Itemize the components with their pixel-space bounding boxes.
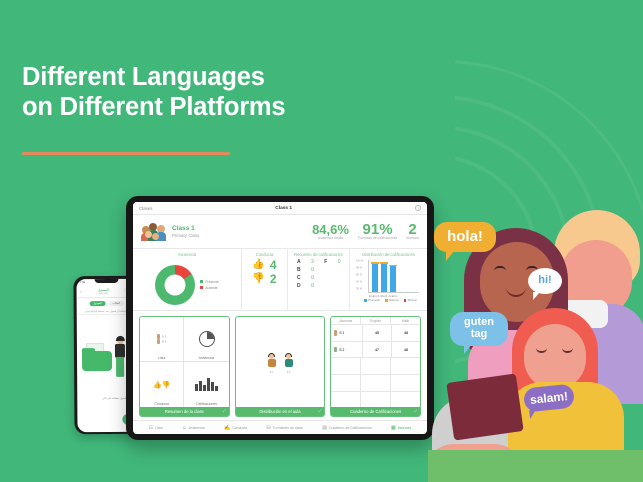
attendance-donut-chart [155,265,195,305]
column-header-math: Math [391,317,420,324]
grade-count: 0 [311,275,318,281]
student-label: S 1 [267,371,277,374]
quadrant-behaviour: 👍👎 Conducta [140,362,184,407]
bar-math [381,264,387,292]
status-time: 7:39 [80,281,85,284]
card-body: Alumnos English Math S 1 45 48 [331,317,420,407]
stat-students: 2 Alumnos [406,223,419,240]
card-title: Resumen de la clase [165,409,204,414]
quadrant-attendance: Asistencia [184,317,228,362]
ipad-device: Clases Class 1 ? Class 1 Pr [126,196,434,440]
attendance-legend: Presente Ausente [200,279,219,291]
page-title: Different Languages on Different Platfor… [22,62,285,122]
student-name: S 2 [339,348,344,352]
cell-english: 45 [363,325,392,341]
card-gradebook[interactable]: Alumnos English Math S 1 45 48 [330,316,421,417]
legend-label-absent: Ausente [205,286,217,290]
iphone-notch [94,278,118,283]
list-icon: ☷ [149,425,153,431]
class-title-block: Class 1 Primary Class [172,225,199,238]
iphone-nav-title: الفصول [98,287,109,291]
grade-letter: A [297,259,305,265]
legend-label: Promedio [368,298,380,302]
toolbar-label: Conducta [232,426,247,430]
bar-english [372,264,378,292]
stat-grade-average: 91% Promedio de calificaciones [358,223,397,240]
toolbar-label: Asistencia [189,426,205,430]
quadrant-label: Calificaciones [196,402,217,406]
toolbar-item-maletin[interactable]: ⛁ Tu maletín de clase [266,425,303,431]
back-button[interactable]: Clases [139,206,152,211]
grade-letter: C [297,275,305,281]
people-illustration: hola! hi! guten tag salam! [428,200,643,482]
cell-math: 48 [392,325,420,341]
grade-distribution-panel[interactable]: Distribución de calificaciones 100 % 80 … [349,249,427,310]
card-body: S 1 S 2 [236,317,325,407]
grade-distribution-chart: 100 % 80 % 60 % 40 % 20 % [356,259,421,301]
speech-bubble-hi: hi! [528,268,562,294]
toolbar-item-conducta[interactable]: ✍ Conducta [224,425,247,431]
expand-icon[interactable]: ⤢ [223,409,226,413]
quadrant-grades: Calificaciones [184,362,228,407]
cell-math: 48 [392,342,420,358]
grade-count-panel[interactable]: Recuento de calificaciones A 2 F 0 B 0 C… [287,249,349,310]
stat-attendance: 84,6% Asistencia media [312,223,349,240]
quadrant-label: Asistencia [199,356,214,360]
title-underline [22,152,230,155]
legend-label-present: Presente [205,280,219,284]
avatar [334,347,338,353]
bar-marker [380,262,388,264]
expand-icon[interactable]: ⤢ [414,409,417,413]
legend-swatch-present [200,280,203,283]
bubble-text: hola! [447,229,483,245]
legend-swatch-promedio [364,299,367,302]
chart-legend: Promedio Máximo Mínimo [356,298,421,302]
student-label: S 2 [284,371,294,374]
student-name: S 1 [162,334,167,338]
thumbs-down-icon: 👎 [252,273,264,285]
stat-value: 84,6% [312,223,349,237]
card-footer[interactable]: Distribución en el aula ⤢ [236,407,325,416]
stat-label: Alumnos [406,236,419,240]
person-hair [115,336,124,341]
speech-bubble-guten-tag: guten tag [450,312,508,346]
panel-title: Asistencia [137,252,237,257]
person-redhead-face [524,324,586,390]
stat-value: 2 [406,223,419,237]
column-header-alumnos: Alumnos [331,317,361,324]
toolbar-label: Informes [398,426,412,430]
metrics-row: Asistencia Presente Ausente Conducta 👍 4 [133,249,427,311]
y-tick: 100 % [356,260,364,263]
table-row-empty[interactable] [331,358,420,375]
expand-icon[interactable]: ⤢ [318,409,321,413]
table-row[interactable]: S 2 47 48 [331,342,420,359]
bubble-text: salam! [529,390,568,407]
y-tick: 60 % [356,274,362,277]
card-body: S 1 S 2 Lista Asistencia 👍👎 [140,317,229,407]
class-avatar [141,222,167,242]
speech-bubble-hola: hola! [434,222,496,252]
grade-count: 2 [311,259,318,265]
iphone-nav-subtitle: المدرسة [82,291,124,294]
card-footer[interactable]: Cuaderno de Calificaciones ⤢ [331,407,420,416]
person-check-icon: ☺ [182,425,187,431]
panel-title: Distribución de calificaciones [354,252,423,257]
toolbar-label: Tu maletín de clase [273,426,303,430]
behaviour-panel[interactable]: Conducta 👍 4 👎 2 [241,249,287,310]
quadrant-label: Conducta [154,402,169,406]
bar-arabic [390,266,396,292]
class-name: Class 1 [172,225,199,233]
legend-swatch-minimo [404,299,407,302]
briefcase-icon: ⛁ [266,425,270,431]
bar-marker [371,262,379,264]
help-icon[interactable]: ? [415,205,421,211]
ground-shape [428,450,643,482]
chart-bars [372,260,396,292]
behaviour-positive-value: 4 [270,259,277,271]
table-header-row: Alumnos English Math [331,317,420,325]
promo-banner: Different Languages on Different Platfor… [0,0,643,482]
summary-quadrants: S 1 S 2 Lista Asistencia 👍👎 [140,317,229,407]
legend-label: Máximo [389,298,399,302]
card-title: Cuaderno de Calificaciones [350,409,401,414]
cell-student: S 1 [331,325,363,341]
stat-label: Promedio de calificaciones [358,236,397,240]
stat-value: 91% [358,223,397,237]
grade-count: 0 [311,267,318,273]
behaviour-negative-value: 2 [270,273,277,285]
quadrant-label: Lista [158,356,165,360]
cards-row: S 1 S 2 Lista Asistencia 👍👎 [133,311,427,420]
bubble-text: hi! [538,275,551,287]
cell-english: 47 [363,342,392,358]
student-name: S 1 [339,331,344,335]
thumbs-icons: 👍👎 [153,381,170,389]
folder-icon [81,351,111,371]
student-body [268,359,276,367]
panel-title: Conducta [246,252,283,257]
legend-swatch-absent [200,286,203,289]
mini-student-list: S 1 S 2 [157,334,167,344]
seating-area: S 1 S 2 [236,317,325,407]
table-row-empty[interactable] [331,375,420,392]
chart-plot-area [368,260,419,293]
table-row[interactable]: S 1 45 48 [331,325,420,342]
bubble-text-line2: tag [471,329,488,341]
panel-title: Recuento de calificaciones [292,252,345,257]
bottom-toolbar: ☷ Lista ☺ Asistencia ✍ Conducta ⛁ Tu mal… [133,420,427,434]
y-tick: 40 % [356,281,362,284]
behaviour-icon: ✍ [224,425,230,431]
toolbar-item-asistencia[interactable]: ☺ Asistencia [182,425,205,431]
class-stats: 84,6% Asistencia media 91% Promedio de c… [312,223,419,240]
report-icon: ▦ [391,425,396,431]
card-title: Distribución en el aula [259,409,300,414]
segment-students[interactable]: الطلاب [108,300,124,306]
class-header: Class 1 Primary Class 84,6% Asistencia m… [133,215,427,249]
y-tick: 20 % [356,288,362,291]
table-row-empty[interactable] [331,392,420,408]
class-subtitle: Primary Class [172,233,199,238]
legend-swatch-maximo [385,299,388,302]
face-eye [494,266,506,271]
grade-letter: F [324,259,332,265]
y-tick: 80 % [356,267,362,270]
avatar [334,330,338,336]
student-body [285,359,293,367]
card-seating-chart[interactable]: S 1 S 2 Distribución en el aula [235,316,326,417]
grade-count: 0 [311,283,318,289]
person-legs [116,357,124,377]
mini-bar-chart [195,378,218,391]
mini-pie-chart [199,331,215,347]
screen-title: Class 1 [152,206,415,211]
card-footer[interactable]: Resumen de la clase ⤢ [140,407,229,416]
ipad-screen: Clases Class 1 ? Class 1 Pr [133,202,427,434]
avatar [157,339,160,344]
grade-count-grid: A 2 F 0 B 0 C 0 D 0 [292,259,345,289]
grade-letter: D [297,283,305,289]
toolbar-item-informes[interactable]: ▦ Informes [391,425,411,431]
student-avatar[interactable]: S 2 [285,354,293,371]
book-shape [446,373,523,440]
attendance-panel[interactable]: Asistencia Presente Ausente [133,249,241,310]
student-avatar[interactable]: S 1 [268,354,276,371]
thumbs-up-icon: 👍 [252,259,264,271]
app-top-bar: Clases Class 1 ? [133,202,427,215]
bar-marker [389,265,397,267]
segment-classes[interactable]: الفصول [89,301,105,307]
notebook-icon: ▤ [322,425,327,431]
person-body [115,344,125,358]
grade-letter: B [297,267,305,273]
gradebook-table: Alumnos English Math S 1 45 48 [331,317,420,407]
toolbar-item-lista[interactable]: ☷ Lista [149,425,163,431]
grade-count: 0 [338,259,345,265]
toolbar-label: Cuaderno de Calificaciones [329,426,372,430]
student-name: S 2 [162,339,167,343]
column-header-english: English [361,317,391,324]
cell-student: S 2 [331,342,363,358]
toolbar-label: Lista [155,426,162,430]
toolbar-item-cuaderno[interactable]: ▤ Cuaderno de Calificaciones [322,425,372,431]
card-class-summary[interactable]: S 1 S 2 Lista Asistencia 👍👎 [139,316,230,417]
legend-label: Mínimo [408,298,417,302]
quadrant-list: S 1 S 2 Lista [140,317,184,362]
